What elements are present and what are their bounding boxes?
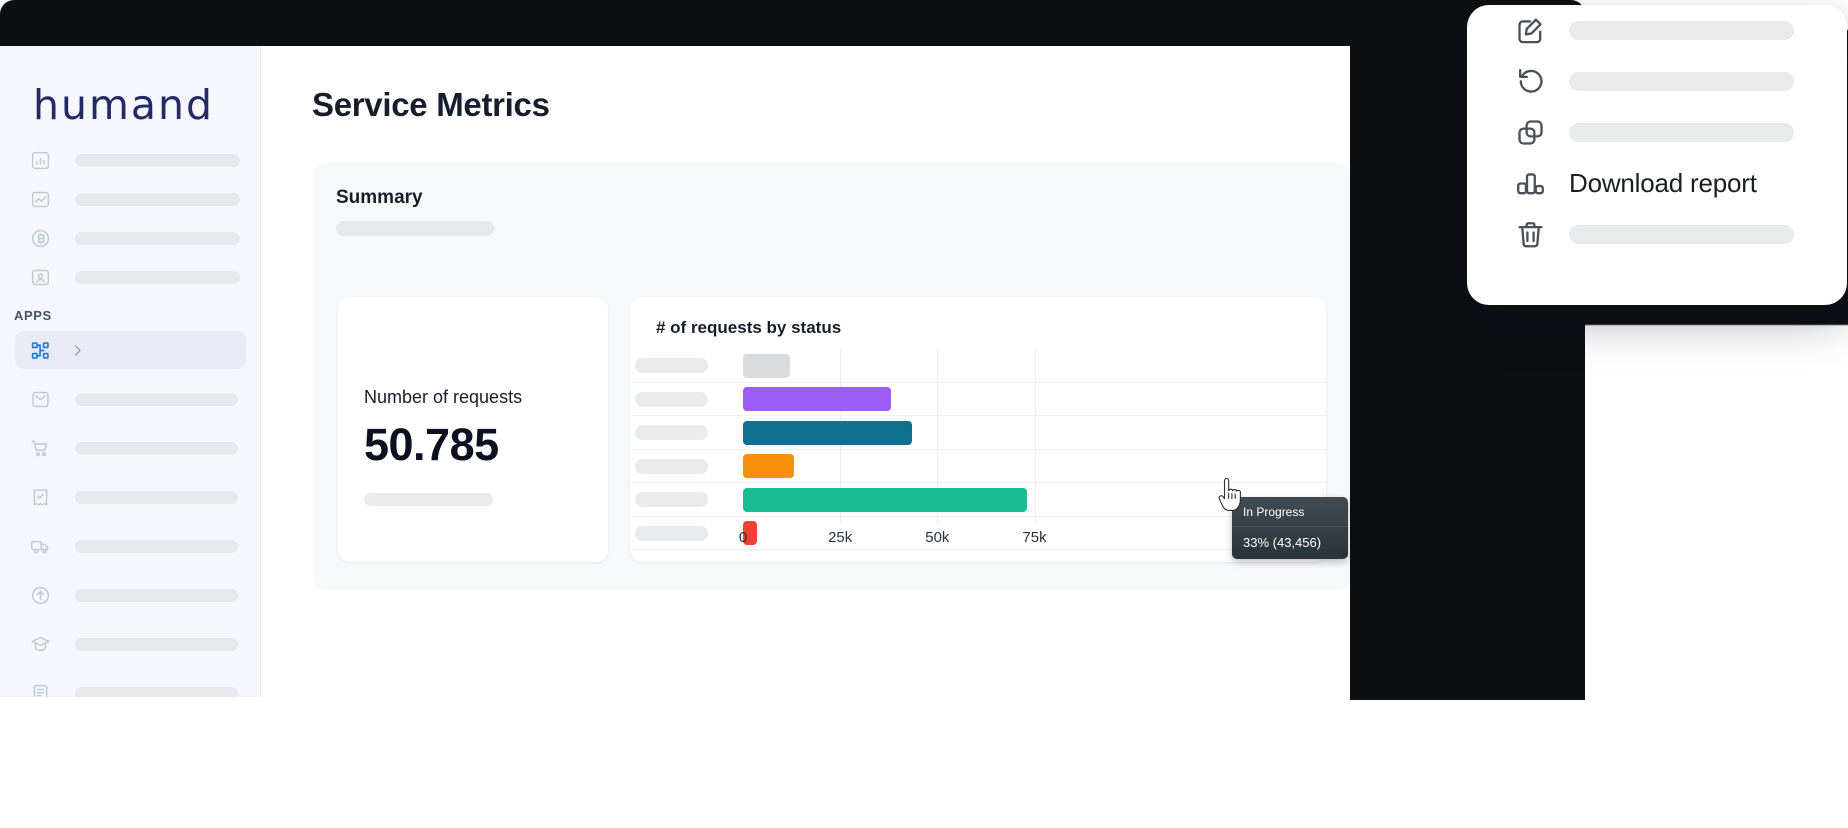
screenshot-root: humand — [0, 0, 1848, 828]
sidebar-item-library[interactable] — [0, 674, 261, 697]
browser-chrome-top-bar — [0, 0, 1585, 46]
sidebar-item-label-placeholder — [75, 687, 238, 698]
context-menu-card: Download report — [1467, 5, 1847, 305]
sidebar-item-label-placeholder — [75, 393, 238, 406]
chart-x-tick-label: 0 — [739, 529, 747, 546]
trash-delete-icon — [1512, 217, 1548, 253]
sidebar-item-reports[interactable] — [0, 180, 261, 218]
chevron-right-icon[interactable] — [70, 343, 85, 358]
undo-restore-icon — [1512, 64, 1548, 100]
sidebar-item-invoices[interactable] — [0, 478, 261, 516]
menu-item-label-placeholder — [1569, 225, 1794, 244]
inbox-icon — [28, 387, 52, 411]
sidebar-item-learning[interactable] — [0, 625, 261, 663]
sidebar-item-analytics[interactable] — [0, 141, 261, 179]
chart-category-label-placeholder — [635, 425, 708, 440]
org-chart-icon — [28, 338, 52, 362]
menu-item-edit[interactable] — [1467, 5, 1847, 56]
app-window: humand — [0, 46, 1350, 697]
chart-bar[interactable] — [743, 421, 912, 445]
chart-category-label-placeholder — [635, 459, 708, 474]
sidebar-item-label-placeholder — [75, 193, 240, 206]
sidebar-item-label-placeholder — [75, 491, 238, 504]
chart-bar[interactable] — [743, 354, 790, 378]
bitcoin-circle-icon — [28, 226, 52, 250]
sidebar-item-label-placeholder — [75, 442, 238, 455]
chart-category-label-placeholder — [635, 492, 708, 507]
sidebar-item-uploads[interactable] — [0, 576, 261, 614]
chart-category-label-placeholder — [635, 526, 708, 541]
sidebar-item-shop[interactable] — [0, 429, 261, 467]
summary-panel: Summary Number of requests 50.785 # of r… — [313, 163, 1350, 591]
sidebar-apps-nav — [0, 331, 261, 697]
menu-item-label-placeholder — [1569, 123, 1794, 142]
kpi-card-number-of-requests: Number of requests 50.785 — [338, 297, 608, 562]
sidebar-section-apps-label: APPS — [14, 308, 52, 323]
tooltip-title: In Progress — [1232, 497, 1348, 527]
chart-bar[interactable] — [743, 387, 891, 411]
edit-pencil-square-icon — [1512, 13, 1548, 49]
chart-card-requests-by-status: # of requests by status 025k50k75k150k — [630, 297, 1326, 562]
chart-bar-row[interactable] — [743, 416, 1326, 450]
book-icon — [28, 681, 52, 697]
menu-item-delete[interactable] — [1467, 209, 1847, 260]
upload-circle-icon — [28, 583, 52, 607]
kpi-label: Number of requests — [364, 387, 522, 408]
sidebar-item-org-chart[interactable] — [15, 331, 246, 369]
contact-card-icon — [28, 265, 52, 289]
sidebar-item-label-placeholder — [75, 271, 240, 284]
chart-category-label-placeholder — [635, 358, 708, 373]
sidebar-top-nav — [0, 141, 261, 297]
main-content: Service Metrics Summary Number of reques… — [261, 46, 1350, 697]
chart-bar-row[interactable] — [743, 349, 1326, 383]
duplicate-copy-icon — [1512, 115, 1548, 151]
menu-item-restore[interactable] — [1467, 56, 1847, 107]
sidebar-item-finance[interactable] — [0, 219, 261, 257]
chart-body: 025k50k75k150k — [630, 349, 1326, 562]
tooltip-value: 33% (43,456) — [1232, 527, 1348, 559]
chart-bar[interactable] — [743, 488, 1027, 512]
summary-title: Summary — [336, 187, 423, 209]
sidebar-item-directory[interactable] — [0, 258, 261, 296]
sidebar: humand — [0, 46, 261, 697]
menu-item-label-placeholder — [1569, 21, 1794, 40]
delivery-truck-icon — [28, 534, 52, 558]
sidebar-item-inbox[interactable] — [0, 380, 261, 418]
menu-item-download-report-label: Download report — [1569, 168, 1757, 199]
chart-bar-row[interactable] — [743, 383, 1326, 417]
chart-x-tick-label: 50k — [925, 529, 949, 546]
chart-x-tick-label: 25k — [828, 529, 852, 546]
bar-chart-icon — [1512, 166, 1548, 202]
sidebar-item-label-placeholder — [75, 589, 238, 602]
chart-category-label-placeholder — [635, 392, 708, 407]
chart-tooltip: In Progress 33% (43,456) — [1232, 497, 1348, 559]
browser-chrome-right-panel — [1350, 330, 1585, 700]
receipt-check-icon — [28, 485, 52, 509]
bar-chart-box-icon — [28, 148, 52, 172]
chart-bar[interactable] — [743, 454, 794, 478]
image-chart-icon — [28, 187, 52, 211]
kpi-value: 50.785 — [364, 419, 499, 471]
page-title: Service Metrics — [312, 86, 550, 124]
menu-item-label-placeholder — [1569, 72, 1794, 91]
kpi-footer-placeholder — [364, 493, 493, 506]
mouse-cursor-pointer-icon — [1216, 478, 1242, 512]
sidebar-item-logistics[interactable] — [0, 527, 261, 565]
sidebar-item-label-placeholder — [75, 232, 240, 245]
sidebar-item-label-placeholder — [75, 540, 238, 553]
summary-subtitle-placeholder — [336, 221, 494, 236]
graduation-cap-icon — [28, 632, 52, 656]
menu-item-duplicate[interactable] — [1467, 107, 1847, 158]
shopping-cart-icon — [28, 436, 52, 460]
sidebar-item-label-placeholder — [75, 154, 240, 167]
menu-item-download-report[interactable]: Download report — [1467, 158, 1847, 209]
chart-x-tick-label: 75k — [1022, 529, 1046, 546]
app-logo[interactable]: humand — [33, 81, 214, 129]
sidebar-item-label-placeholder — [75, 638, 238, 651]
chart-title: # of requests by status — [656, 318, 841, 338]
